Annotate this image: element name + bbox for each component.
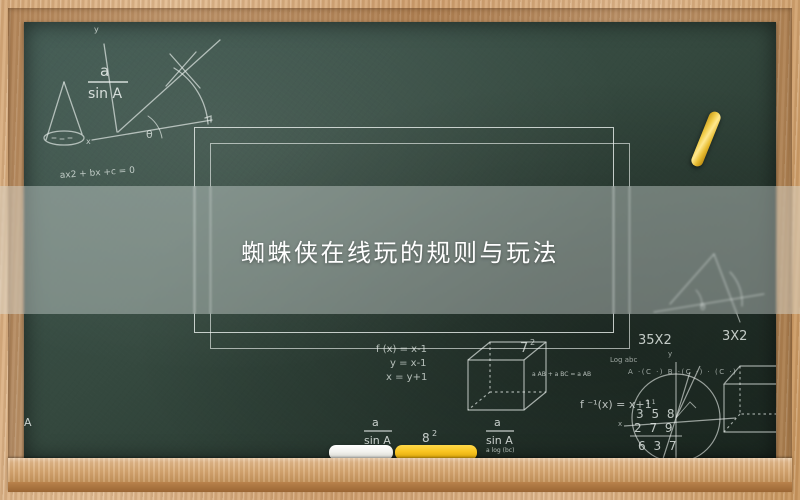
svg-text:x: x [618,420,622,428]
svg-text:2: 2 [530,338,535,347]
svg-text:3X2: 3X2 [722,329,747,344]
svg-text:x: x [86,137,91,146]
svg-text:y: y [668,350,672,358]
svg-text:1 1: 1 1 [646,399,656,406]
svg-text:a: a [100,62,109,80]
svg-text:6 3 7: 6 3 7 [638,439,679,453]
svg-text:θ: θ [146,128,153,141]
svg-text:y = x-1: y = x-1 [390,358,427,369]
svg-text:f (x) = x-1: f (x) = x-1 [376,344,427,355]
svg-text:sin A: sin A [486,434,513,447]
blackboard-cover-image: y x θ ax2 + bx +c = 0 a sin A [0,0,800,500]
chalk-tray-lip [8,482,792,492]
svg-text:a: a [372,416,379,429]
svg-text:8: 8 [422,431,430,445]
svg-text:ax2 + bx +c = 0: ax2 + bx +c = 0 [60,166,136,181]
svg-text:Log abc: Log abc [610,356,637,364]
svg-text:y: y [94,25,99,34]
svg-text:a log (bc): a log (bc) [486,447,514,454]
svg-text:35X2: 35X2 [638,333,672,348]
svg-text:a: a [494,416,501,429]
svg-text:x = y+1: x = y+1 [386,372,427,383]
svg-text:3 5 8: 3 5 8 [636,407,677,421]
svg-text:2: 2 [432,429,437,438]
page-title: 蜘蛛侠在线玩的规则与玩法 [0,186,800,314]
svg-text:sin A: sin A [88,86,123,102]
svg-text:A: A [24,416,32,429]
svg-text:a AB + a BC = a AB: a AB + a BC = a AB [532,371,591,378]
svg-text:7: 7 [520,341,528,356]
